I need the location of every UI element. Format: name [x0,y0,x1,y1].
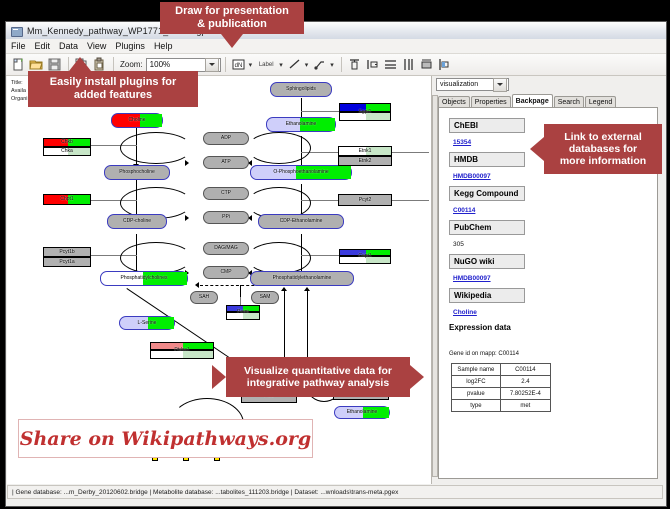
annotation-visualize: Visualize quantitative data for integrat… [226,357,410,397]
cell-key: log2FC [452,376,501,388]
status-text: | Gene database: ...m_Derby_20120602.bri… [12,489,398,496]
distribute-horizontal-icon[interactable] [400,56,417,73]
bring-to-front-icon[interactable] [436,56,453,73]
node-label: Etnk1 [359,149,372,154]
cell-value: C00114 [500,364,550,376]
gene-pcyt1a[interactable]: Pcyt1a [43,257,91,267]
menu-help[interactable]: Help [154,41,173,51]
zoom-value: 100% [150,60,170,69]
annotation-share: Share on Wikipathways.org [18,419,313,458]
node-label: DAG/MAG [214,246,238,251]
arrowhead [195,282,199,288]
link-nugo[interactable]: HMDB00097 [453,275,491,282]
label-dropdown-arrow[interactable]: ▾ [279,61,283,69]
menu-bar: File Edit Data View Plugins Help [6,39,666,54]
common-size-icon[interactable] [418,56,435,73]
annotation-visualize-pointer-right [410,365,424,389]
link-hmdb[interactable]: HMDB00097 [453,173,491,180]
node-sam[interactable]: SAM [251,291,279,304]
node-label: Phosphatidylcholines [121,276,168,281]
annotation-visualize-line2: integrative pathway analysis [247,377,389,389]
node-label: Ptdss1 [174,348,189,353]
annotation-draw: Draw for presentation & publication [160,2,304,34]
meta-organism: Organi [11,95,28,103]
link-kegg[interactable]: C00114 [453,207,475,214]
interaction-dropdown-arrow[interactable]: ▾ [330,61,334,69]
line-icon[interactable] [286,56,303,73]
menu-view[interactable]: View [87,41,106,51]
arc-adp-atp-right [247,132,311,164]
node-phosphatidylcholines[interactable]: Phosphatidylcholines [100,271,188,286]
gene-id-label: Gene id on mapp: C00114 [449,351,519,357]
node-label: Sgpl1 [359,110,372,115]
arc-dag-cmp [120,242,192,274]
node-sah[interactable]: SAH [190,291,218,304]
cell-key: type [452,400,501,412]
toolbar-separator-2 [113,57,114,72]
node-label: Phosphatidylethanolamine [273,276,332,281]
gene-pemt[interactable]: Pemt [226,312,260,320]
visualization-combobox[interactable]: visualization [436,78,509,91]
visualization-dropdown-arrow[interactable] [493,78,507,92]
status-bar: | Gene database: ...m_Derby_20120602.bri… [7,485,663,499]
node-cdp-choline[interactable]: CDP-choline [107,214,167,229]
section-header-chebi: ChEBI [449,118,525,133]
menu-data[interactable]: Data [59,41,78,51]
section-header-pubchem: PubChem [449,220,525,235]
annotation-draw-line2: & publication [197,18,267,31]
node-label: Pcyt2 [359,198,372,203]
gene-etnk2[interactable]: Etnk2 [338,156,392,166]
pathway-metadata: Title: Availa Organi [11,79,28,103]
node-label: CDP-Ethanolamine [280,219,323,224]
annotation-plugins: Easily install plugins for added feature… [28,71,198,107]
pathway-document-icon [10,25,23,37]
annotation-plugins-pointer [69,57,91,71]
node-label: Cept1 [358,254,371,259]
node-label: Chka [61,149,73,154]
section-header-wikipedia: Wikipedia [449,288,525,303]
annotation-visualize-line1: Visualize quantitative data for [244,365,392,377]
table-row: log2FC 2.4 [452,376,551,388]
node-ctp[interactable]: CTP [203,187,249,200]
meta-availability: Availa [11,87,28,95]
node-label: CMP [220,270,231,275]
zoom-label: Zoom: [120,60,143,69]
node-label: SAH [199,295,209,300]
gene-chka[interactable]: Chka [43,147,91,156]
gene-chkb[interactable]: Chkb [43,138,91,147]
zoom-combobox[interactable]: 100% [146,58,221,72]
edge-sgpl1-link [301,111,339,112]
node-label: Chkb [61,140,73,145]
title-bar: Mm_Kennedy_pathway_WP1771_45176.gpml [6,22,666,40]
section-header-hmdb: HMDB [449,152,525,167]
annotation-draw-line1: Draw for presentation [175,5,289,18]
node-ethanolamine-bottom[interactable]: Ethanolamine [334,406,390,419]
node-label: Pcyt1a [59,260,74,265]
node-label: ATP [221,160,230,165]
section-header-kegg: Kegg Compound [449,186,525,201]
toolbar-separator-3 [225,57,226,72]
link-chebi[interactable]: 15354 [453,139,471,146]
annotation-links-pointer [530,137,544,161]
interaction-icon[interactable] [311,56,328,73]
node-label: Sphingolipids [286,87,316,92]
node-cmp[interactable]: CMP [203,266,249,279]
edge-pemt-stub [240,285,241,297]
menu-plugins[interactable]: Plugins [115,41,145,51]
node-label: CDP-choline [123,219,151,224]
annotation-links: Link to external databases for more info… [544,124,662,174]
arrowhead [185,215,189,221]
gene-chpt1[interactable]: Chpt1 [43,194,91,205]
cell-value: met [500,400,550,412]
node-label: Chpt1 [60,197,73,202]
new-file-icon[interactable] [10,56,27,73]
expression-table: Sample name C00114 log2FC 2.4 pvalue 7.8… [451,363,551,412]
node-phosphatidylethanolamine[interactable]: Phosphatidylethanolamine [250,271,354,286]
annotation-plugins-line2: added features [74,89,152,102]
expression-data-heading: Expression data [449,323,511,332]
node-cdp-ethanolamine[interactable]: CDP-Ethanolamine [258,214,344,229]
arc-dag-cmp-right [247,242,311,274]
datanode-icon[interactable]: dN [230,56,247,73]
node-dagmag[interactable]: DAG/MAG [203,242,249,255]
screenshot-root: Mm_Kennedy_pathway_WP1771_45176.gpml Fil… [0,0,670,509]
toolbar-separator-4 [341,57,342,72]
align-top-icon[interactable] [346,56,363,73]
gene-pcyt1b[interactable]: Pcyt1b [43,247,91,257]
annotation-plugins-line1: Easily install plugins for [50,76,177,89]
distribute-vertical-icon[interactable] [382,56,399,73]
annotation-links-line2: databases for [569,143,637,155]
visualization-value: visualization [440,81,478,88]
node-adp[interactable]: ADP [203,132,249,145]
gene-pcyt2[interactable]: Pcyt2 [338,194,392,206]
datanode-dropdown-arrow[interactable]: ▾ [249,61,253,69]
node-label: Choline [129,118,146,123]
annotation-visualize-pointer-left [212,365,226,389]
node-l-serine-left[interactable]: L-Serine [119,316,175,330]
arc-adp-atp [120,132,192,164]
annotation-links-line1: Link to external [564,131,642,143]
node-label: L-Serine [138,321,157,326]
table-row: type met [452,400,551,412]
arrowhead [281,287,287,291]
meta-title: Title: [11,79,28,87]
cell-value: 2.4 [500,376,550,388]
node-sphingolipids[interactable]: Sphingolipids [270,82,332,97]
gene-cept1[interactable]: Cept1 [339,256,391,264]
node-label: Pemt [237,310,249,315]
label-tool[interactable]: Label [255,56,277,73]
gene-sgpl1[interactable]: Sgpl1 [339,112,391,121]
node-label: Pcyt1b [59,250,74,255]
cell-key: Sample name [452,364,501,376]
node-phosphocholine[interactable]: Phosphocholine [104,165,170,180]
arrowhead [304,287,310,291]
node-choline-top[interactable]: Choline [111,113,163,128]
gene-ptdss1[interactable]: Ptdss1 [150,350,214,359]
cell-key: pvalue [452,388,501,400]
node-label: PPi [222,215,230,220]
gene-etnk1[interactable]: Etnk1 [338,146,392,156]
node-label: Etnk2 [359,159,372,164]
cell-value: 7.80252E-4 [500,388,550,400]
annotation-links-line3: more information [560,155,646,167]
node-label: Ethanolamine [286,122,317,127]
value-pubchem: 305 [453,241,464,248]
node-label: ADP [221,136,231,141]
node-ethanolamine[interactable]: Ethanolamine [266,117,336,132]
table-row: pvalue 7.80252E-4 [452,388,551,400]
link-wikipedia[interactable]: Choline [453,309,477,316]
node-label: Phosphocholine [119,170,155,175]
line-dropdown-arrow[interactable]: ▾ [305,61,309,69]
section-header-nugo: NuGO wiki [449,254,525,269]
arrowhead [185,160,189,166]
menu-file[interactable]: File [11,41,26,51]
node-label: Ethanolamine [347,410,378,415]
tab-backpage[interactable]: Backpage [512,94,553,108]
annotation-share-text: Share on Wikipathways.org [20,428,311,450]
node-label: CTP [221,191,231,196]
node-o-phosphoethanolamine[interactable]: O-Phosphoethanolamine [250,165,352,180]
zoom-dropdown-arrow[interactable] [205,58,219,72]
edge-pemt-link [240,297,241,305]
node-label: SAM [260,295,271,300]
annotation-draw-pointer [221,34,243,48]
menu-edit[interactable]: Edit [35,41,51,51]
node-label: O-Phosphoethanolamine [273,170,328,175]
label-tool-text: Label [255,56,277,73]
node-ppi[interactable]: PPi [203,211,249,224]
align-left-icon[interactable] [364,56,381,73]
node-atp[interactable]: ATP [203,156,249,169]
svg-text:dN: dN [234,63,242,69]
table-row: Sample name C00114 [452,364,551,376]
